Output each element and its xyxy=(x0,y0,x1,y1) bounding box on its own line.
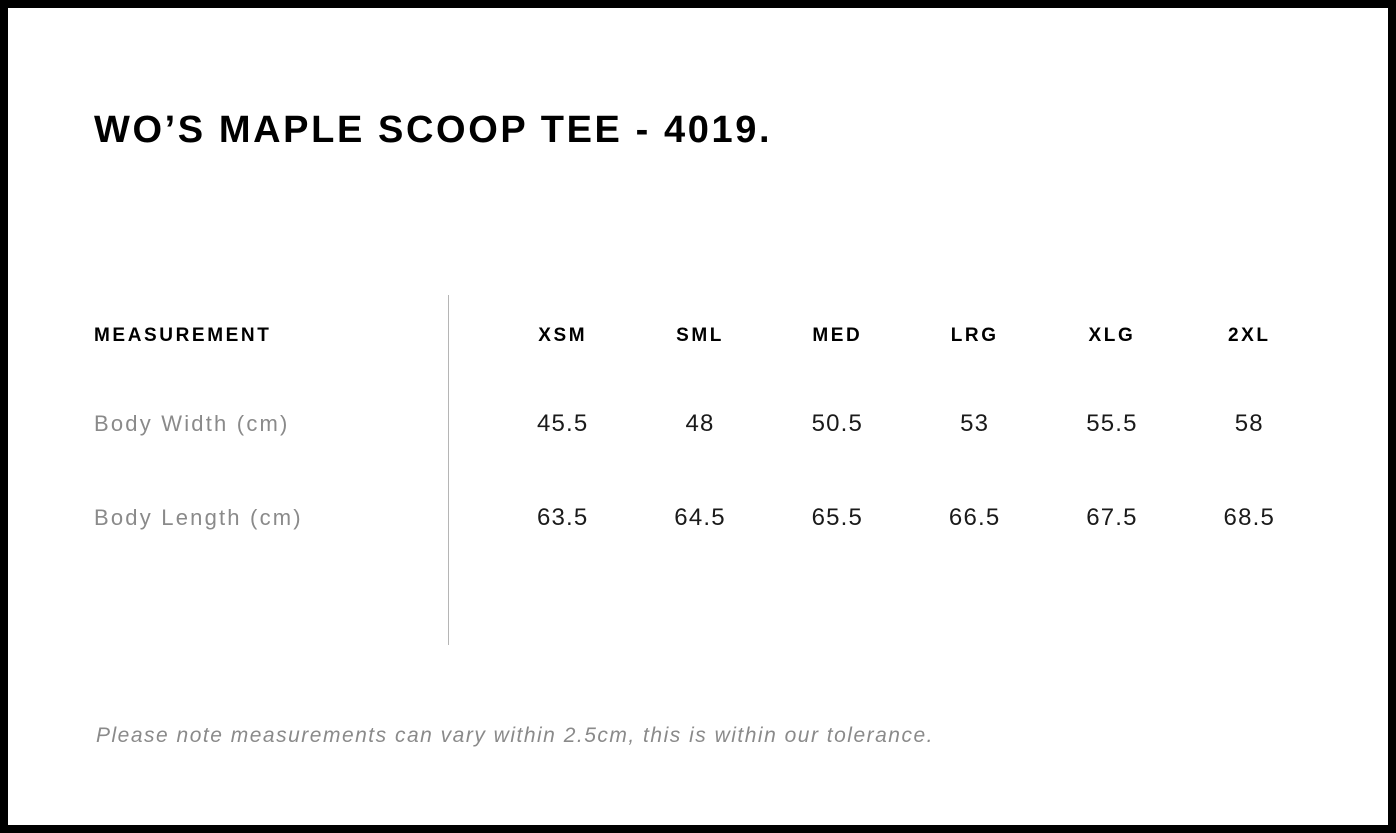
row-label-body-length: Body Length (cm) xyxy=(94,471,494,565)
column-header-measurement: MEASUREMENT xyxy=(94,295,494,377)
cell-body-length-xlg: 67.5 xyxy=(1043,471,1180,565)
cell-body-width-xlg: 55.5 xyxy=(1043,377,1180,471)
column-header-xsm: XSM xyxy=(494,295,631,377)
row-label-body-width: Body Width (cm) xyxy=(94,377,494,471)
cell-body-length-lrg: 66.5 xyxy=(906,471,1043,565)
cell-body-length-xsm: 63.5 xyxy=(494,471,631,565)
table-header-row: MEASUREMENT XSM SML MED LRG XLG 2XL xyxy=(94,295,1318,377)
cell-body-width-xsm: 45.5 xyxy=(494,377,631,471)
cell-body-length-med: 65.5 xyxy=(769,471,906,565)
table-row: Body Length (cm) 63.5 64.5 65.5 66.5 67.… xyxy=(94,471,1318,565)
cell-body-width-sml: 48 xyxy=(631,377,768,471)
column-header-sml: SML xyxy=(631,295,768,377)
tolerance-note: Please note measurements can vary within… xyxy=(96,724,934,748)
cell-body-width-lrg: 53 xyxy=(906,377,1043,471)
column-header-xlg: XLG xyxy=(1043,295,1180,377)
cell-body-width-med: 50.5 xyxy=(769,377,906,471)
column-header-med: MED xyxy=(769,295,906,377)
size-chart-table: MEASUREMENT XSM SML MED LRG XLG 2XL Body… xyxy=(94,295,1318,565)
column-header-lrg: LRG xyxy=(906,295,1043,377)
cell-body-width-2xl: 58 xyxy=(1181,377,1318,471)
column-header-2xl: 2XL xyxy=(1181,295,1318,377)
cell-body-length-2xl: 68.5 xyxy=(1181,471,1318,565)
size-chart-page: WO’S MAPLE SCOOP TEE - 4019. MEASUREMENT… xyxy=(0,0,1396,833)
size-chart-table-region: MEASUREMENT XSM SML MED LRG XLG 2XL Body… xyxy=(94,295,1318,645)
cell-body-length-sml: 64.5 xyxy=(631,471,768,565)
page-title: WO’S MAPLE SCOOP TEE - 4019. xyxy=(94,108,772,154)
table-row: Body Width (cm) 45.5 48 50.5 53 55.5 58 xyxy=(94,377,1318,471)
